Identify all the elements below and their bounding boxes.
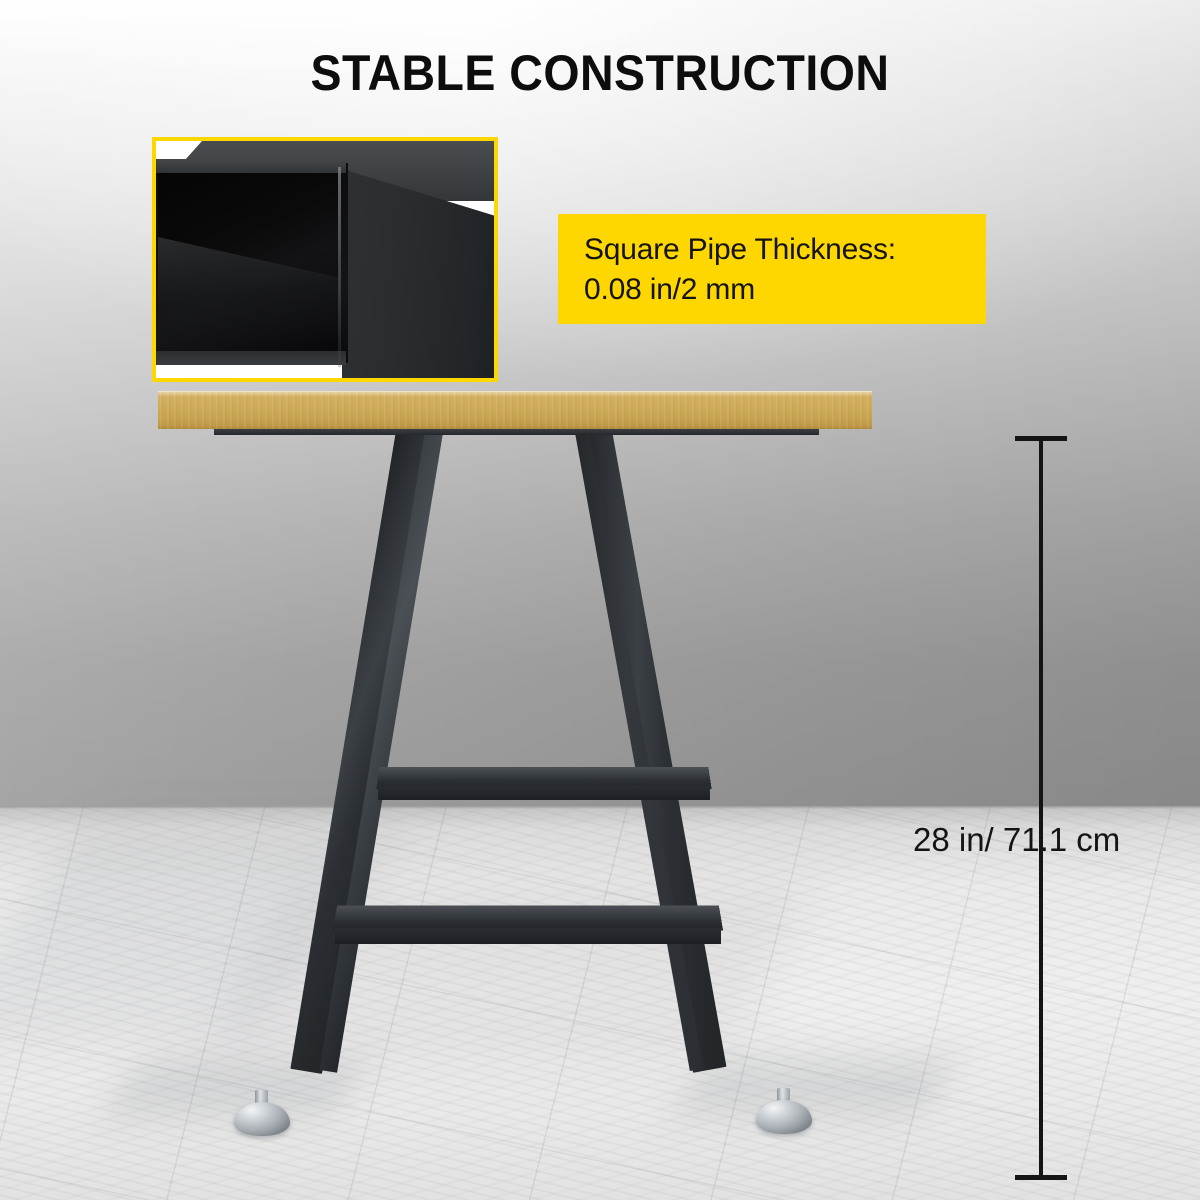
leveling-foot-left bbox=[234, 1102, 290, 1136]
pipe-corner-highlight bbox=[338, 167, 341, 367]
leveling-foot-right bbox=[756, 1100, 812, 1134]
product-feature-image: Square Pipe Thickness: 0.08 in/2 mm STAB… bbox=[0, 0, 1200, 1200]
wood-tabletop bbox=[158, 391, 872, 429]
crossbar-upper-face bbox=[378, 786, 710, 800]
square-pipe-inset-frame bbox=[152, 137, 498, 382]
square-pipe-photo bbox=[156, 141, 494, 378]
a-frame-leg-right-highlight bbox=[575, 431, 704, 1071]
crossbar-lower bbox=[333, 906, 723, 931]
pipe-wall-top-edge bbox=[152, 159, 346, 173]
tabletop-edge-highlight bbox=[158, 391, 872, 397]
callout-line-2: 0.08 in/2 mm bbox=[584, 270, 986, 310]
tabletop-mounting-rail bbox=[214, 428, 819, 435]
callout-line-1: Square Pipe Thickness: bbox=[584, 230, 986, 270]
crossbar-lower-face bbox=[335, 928, 721, 944]
dimension-cap-bottom bbox=[1015, 1175, 1067, 1180]
page-title: STABLE CONSTRUCTION bbox=[42, 44, 1158, 102]
pipe-wall-bottom-edge bbox=[152, 351, 346, 365]
dimension-line bbox=[1039, 437, 1043, 1179]
dimension-label: 28 in/ 71.1 cm bbox=[913, 820, 1120, 860]
pipe-thickness-callout: Square Pipe Thickness: 0.08 in/2 mm bbox=[558, 214, 986, 324]
a-frame-leg-left bbox=[290, 429, 427, 1074]
